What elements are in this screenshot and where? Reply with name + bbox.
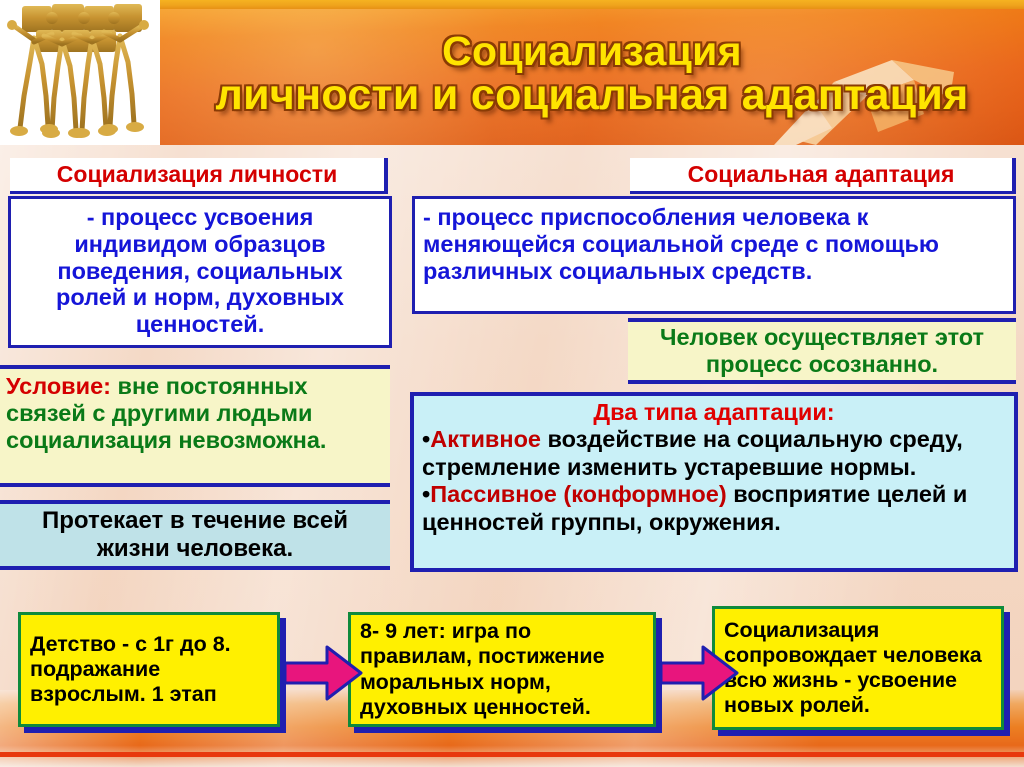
title-line-1: Социализация bbox=[442, 30, 742, 73]
puzzle-people-icon bbox=[0, 0, 160, 145]
left-column-definition: - процесс усвоения индивидом образцов по… bbox=[8, 196, 392, 348]
adaptation-types-title: Два типа адаптации: bbox=[422, 399, 1006, 426]
bullet-icon: • bbox=[422, 426, 430, 452]
adaptation-type-item: •Активное воздействие на социальную сред… bbox=[422, 426, 1006, 481]
adaptation-type-keyword: Пассивное (конформное) bbox=[430, 481, 726, 507]
adaptation-type-keyword: Активное bbox=[430, 426, 541, 452]
flow-step-1: Детство - с 1г до 8. подражание взрослым… bbox=[18, 612, 280, 727]
right-column-title: Социальная адаптация bbox=[630, 158, 1016, 194]
lifelong-note: Протекает в течение всей жизни человека. bbox=[0, 500, 390, 570]
condition-label: Условие: bbox=[6, 373, 111, 399]
conscious-note: Человек осуществляет этот процесс осозна… bbox=[628, 318, 1016, 384]
flow-step-2: 8- 9 лет: игра по правилам, постижение м… bbox=[348, 612, 656, 727]
right-arrow-icon bbox=[659, 645, 739, 701]
header-banner: Социализация личности и социальная адапт… bbox=[160, 0, 1024, 145]
condition-note: Условие: вне постоянных связей с другими… bbox=[0, 365, 390, 487]
flow-step-3: Социализация сопровождает человека всю ж… bbox=[712, 606, 1004, 730]
right-column-definition: - процесс приспособления человека к меня… bbox=[412, 196, 1016, 314]
adaptation-types-panel: Два типа адаптации: •Активное воздействи… bbox=[410, 392, 1018, 572]
page-title: Социализация личности и социальная адапт… bbox=[160, 4, 1024, 145]
title-line-2: личности и социальная адаптация bbox=[215, 73, 968, 119]
adaptation-type-item: •Пассивное (конформное) восприятие целей… bbox=[422, 481, 1006, 536]
left-column-title: Социализация личности bbox=[10, 158, 388, 194]
slide-header: Социализация личности и социальная адапт… bbox=[0, 0, 1024, 145]
bullet-icon: • bbox=[422, 481, 430, 507]
right-arrow-icon bbox=[283, 645, 363, 701]
background-bottom-rule bbox=[0, 752, 1024, 757]
